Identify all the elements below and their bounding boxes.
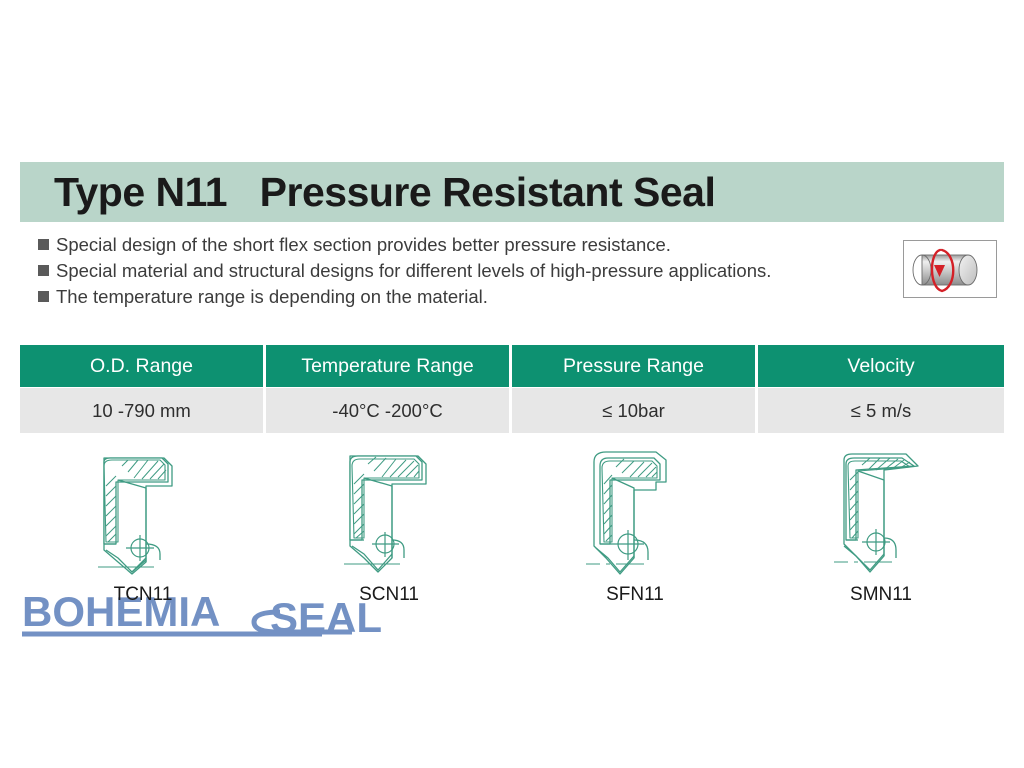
list-item: The temperature range is depending on th… [38,284,878,309]
feature-bullet-list: Special design of the short flex section… [38,232,878,310]
seal-label-scn11: SCN11 [359,584,419,606]
square-bullet-icon [38,265,49,276]
square-bullet-icon [38,239,49,250]
column-header-od-range: O.D. Range [20,345,266,387]
value-velocity: ≤ 5 m/s [758,388,1004,433]
seal-variant-tcn11: TCN11 [20,440,266,615]
seal-cross-section-sfn11-icon [560,440,710,580]
specification-table: O.D. Range Temperature Range Pressure Ra… [20,345,1004,433]
title-band: Type N11 Pressure Resistant Seal [20,162,1004,222]
table-row: 10 -790 mm -40°C -200°C ≤ 10bar ≤ 5 m/s [20,388,1004,433]
list-item: Special design of the short flex section… [38,232,878,257]
list-item: Special material and structural designs … [38,258,878,283]
seal-cross-section-tcn11-icon [68,440,218,580]
bullet-text: Special material and structural designs … [56,258,771,283]
column-header-pressure-range: Pressure Range [512,345,758,387]
seal-label-smn11: SMN11 [850,584,912,606]
column-header-velocity: Velocity [758,345,1004,387]
table-header-row: O.D. Range Temperature Range Pressure Ra… [20,345,1004,387]
seal-label-tcn11: TCN11 [114,584,173,606]
column-header-temperature-range: Temperature Range [266,345,512,387]
value-temperature-range: -40°C -200°C [266,388,512,433]
square-bullet-icon [38,291,49,302]
bullet-text: Special design of the short flex section… [56,232,671,257]
value-pressure-range: ≤ 10bar [512,388,758,433]
shaft-rotation-icon-svg [904,241,996,297]
value-od-range: 10 -790 mm [20,388,266,433]
page-title: Type N11 Pressure Resistant Seal [20,169,715,216]
seal-cross-section-smn11-icon [806,440,956,580]
seal-cross-section-scn11-icon [314,440,464,580]
seal-variant-gallery: TCN11 SCN11 [20,440,1004,615]
seal-variant-scn11: SCN11 [266,440,512,615]
seal-label-sfn11: SFN11 [606,584,664,606]
shaft-rotation-icon [903,240,997,298]
seal-variant-sfn11: SFN11 [512,440,758,615]
seal-variant-smn11: SMN11 [758,440,1004,615]
bullet-text: The temperature range is depending on th… [56,284,488,309]
